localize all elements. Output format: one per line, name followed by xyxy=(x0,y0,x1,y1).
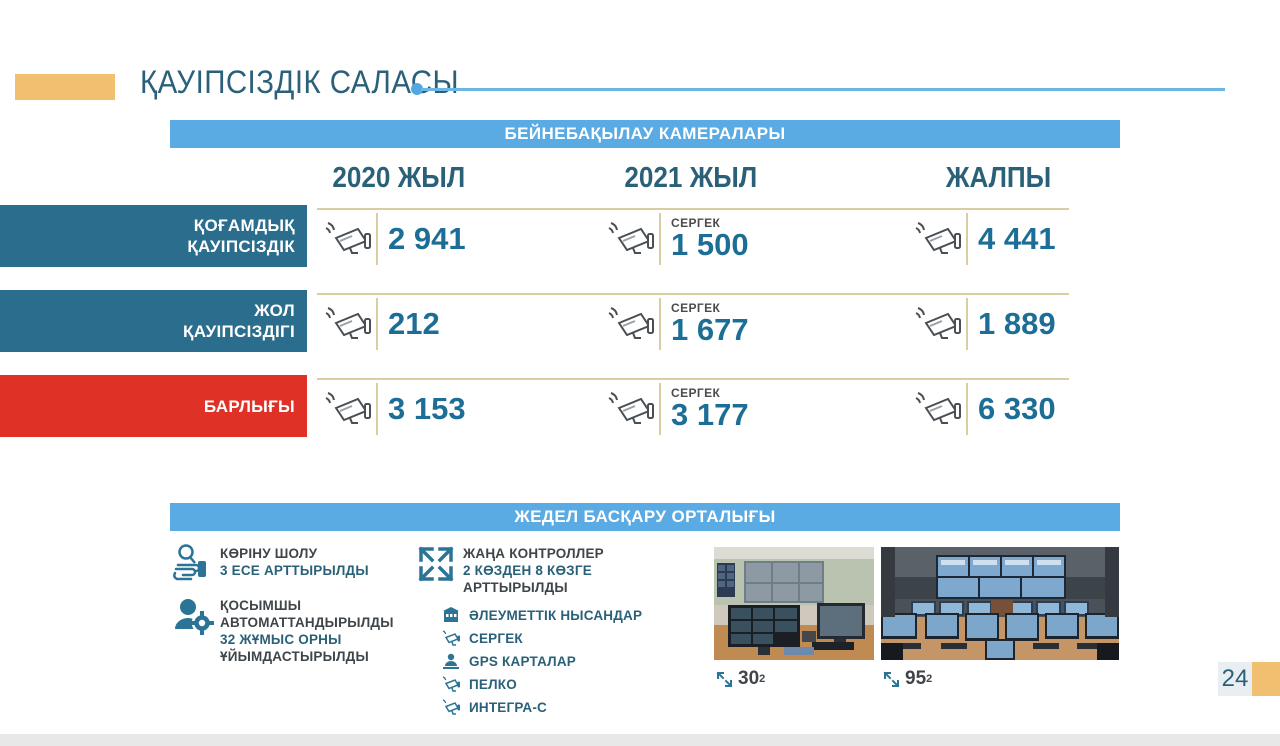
expand-arrows-icon xyxy=(415,543,457,585)
cell-value: 6 330 xyxy=(978,389,1056,429)
cell-value: 3 177 xyxy=(671,398,749,432)
feature-line: АВТОМАТТАНДЫРЫЛДЫ xyxy=(220,614,394,631)
list-item: СЕРГЕК xyxy=(415,629,700,647)
page-number-accent-bar xyxy=(1252,662,1280,696)
feature-line: 32 ЖҰМЫС ОРНЫ xyxy=(220,631,394,648)
cell-divider xyxy=(966,213,968,265)
table-row: ЖОЛ ҚАУІПСІЗДІГІ 212 xyxy=(0,290,1280,352)
feature-line: ЖАҢА КОНТРОЛЛЕР xyxy=(463,545,604,562)
cell-2020: 3 153 xyxy=(322,381,466,437)
photo-caption-superscript: 2 xyxy=(926,673,932,685)
cell-divider xyxy=(659,383,661,435)
row-label-line-1: ҚОҒАМДЫҚ xyxy=(194,215,295,236)
sub-item-label: СЕРГЕК xyxy=(469,631,523,646)
row-label-line-1: ЖОЛ xyxy=(254,300,295,321)
cctv-camera-icon xyxy=(440,629,462,647)
column-header-2021: 2021 ЖЫЛ xyxy=(624,162,757,195)
cctv-camera-icon xyxy=(322,304,374,344)
cell-divider xyxy=(659,213,661,265)
feature-line: ҰЙЫМДАСТЫРЫЛДЫ xyxy=(220,648,394,665)
cell-value: 212 xyxy=(388,304,440,344)
column-header-total: ЖАЛПЫ xyxy=(946,162,1051,195)
cell-divider xyxy=(659,298,661,350)
building-icon xyxy=(440,606,462,624)
cell-2020: 2 941 xyxy=(322,211,466,267)
table-row: ҚОҒАМДЫҚ ҚАУІПСІЗДІК 2 941 xyxy=(0,205,1280,267)
row-label-line-1: БАРЛЫҒЫ xyxy=(204,396,295,417)
control-center-left-features: КӨРІНУ ШОЛУ 3 ЕСЕ АРТТЫРЫЛДЫ ҚОСЫМШЫ АВТ… xyxy=(172,543,407,675)
sub-item-label: ПЕЛКО xyxy=(469,677,517,692)
title-accent-bar xyxy=(15,74,115,100)
user-settings-icon xyxy=(172,595,214,637)
list-item: ПЕЛКО xyxy=(415,675,700,693)
cell-divider xyxy=(966,383,968,435)
row-rule xyxy=(317,378,1069,380)
cell-divider xyxy=(376,213,378,265)
photo-caption-value: 30 xyxy=(738,668,759,690)
row-rule xyxy=(317,293,1069,295)
row-rule xyxy=(317,208,1069,210)
map-pin-person-icon xyxy=(440,652,462,670)
table-row: БАРЛЫҒЫ 3 153 СЕРГЕК xyxy=(0,375,1280,437)
list-item: ЖАҢА КОНТРОЛЛЕР 2 КӨЗДЕН 8 КӨЗГЕ АРТТЫРЫ… xyxy=(415,543,700,596)
cctv-camera-icon xyxy=(605,389,657,429)
feature-line: 3 ЕСЕ АРТТЫРЫЛДЫ xyxy=(220,562,369,579)
cell-value: 1 889 xyxy=(978,304,1056,344)
row-label-road-safety: ЖОЛ ҚАУІПСІЗДІГІ xyxy=(0,290,307,352)
cctv-camera-icon xyxy=(440,675,462,693)
cell-total: 4 441 xyxy=(912,211,1056,267)
cell-total: 6 330 xyxy=(912,381,1056,437)
cell-2020: 212 xyxy=(322,296,440,352)
cell-value: 4 441 xyxy=(978,219,1056,259)
cctv-camera-icon xyxy=(605,219,657,259)
cctv-camera-icon xyxy=(605,304,657,344)
cell-value: 1 500 xyxy=(671,228,749,262)
cell-divider xyxy=(376,298,378,350)
cctv-camera-icon xyxy=(912,304,964,344)
feature-line: КӨРІНУ ШОЛУ xyxy=(220,545,369,562)
row-label-line-2: ҚАУІПСІЗДІК xyxy=(187,236,295,257)
cell-value: 1 677 xyxy=(671,313,749,347)
feature-line: 2 КӨЗДЕН 8 КӨЗГЕ xyxy=(463,562,604,579)
cell-2021: СЕРГЕК 3 177 xyxy=(605,381,749,437)
row-label-total: БАРЛЫҒЫ xyxy=(0,375,307,437)
bottom-strip xyxy=(0,734,1280,746)
list-item: ӘЛЕУМЕТТІК НЫСАНДАР xyxy=(415,606,700,624)
control-room-photo-large xyxy=(881,547,1119,660)
slide-title-row: ҚАУІПСІЗДІК САЛАСЫ xyxy=(0,70,1280,110)
feature-line: АРТТЫРЫЛДЫ xyxy=(463,579,604,596)
cell-divider xyxy=(966,298,968,350)
cell-value: 2 941 xyxy=(388,219,466,259)
cell-2021: СЕРГЕК 1 500 xyxy=(605,211,749,267)
feature-line: ҚОСЫМШЫ xyxy=(220,597,394,614)
photo-caption-value: 95 xyxy=(905,668,926,690)
photo-caption-small: 302 xyxy=(716,668,765,690)
cctv-camera-icon xyxy=(322,219,374,259)
expand-icon xyxy=(883,671,900,688)
row-label-public-safety: ҚОҒАМДЫҚ ҚАУІПСІЗДІК xyxy=(0,205,307,267)
cell-divider xyxy=(376,383,378,435)
sub-item-label: GPS КАРТАЛАР xyxy=(469,654,576,669)
page-title: ҚАУІПСІЗДІК САЛАСЫ xyxy=(140,64,459,101)
cell-2021: СЕРГЕК 1 677 xyxy=(605,296,749,352)
list-item: ҚОСЫМШЫ АВТОМАТТАНДЫРЫЛДЫ 32 ЖҰМЫС ОРНЫ … xyxy=(172,595,407,665)
list-item: GPS КАРТАЛАР xyxy=(415,652,700,670)
control-center-section-banner: ЖЕДЕЛ БАСҚАРУ ОРТАЛЫҒЫ xyxy=(170,503,1120,531)
title-connector-line xyxy=(421,88,1225,91)
photo-caption-superscript: 2 xyxy=(759,673,765,685)
cameras-section-banner: БЕЙНЕБАҚЫЛАУ КАМЕРАЛАРЫ xyxy=(170,120,1120,148)
control-center-mid-features: ЖАҢА КОНТРОЛЛЕР 2 КӨЗДЕН 8 КӨЗГЕ АРТТЫРЫ… xyxy=(415,543,700,716)
column-header-2020: 2020 ЖЫЛ xyxy=(332,162,465,195)
cell-value: 3 153 xyxy=(388,389,466,429)
sub-item-label: ӘЛЕУМЕТТІК НЫСАНДАР xyxy=(469,608,642,623)
sub-item-label: ИНТЕГРА-С xyxy=(469,700,547,715)
page-number: 24 xyxy=(1218,662,1252,696)
list-item: КӨРІНУ ШОЛУ 3 ЕСЕ АРТТЫРЫЛДЫ xyxy=(172,543,407,585)
list-item: ИНТЕГРА-С xyxy=(415,698,700,716)
cell-total: 1 889 xyxy=(912,296,1056,352)
cctv-camera-icon xyxy=(912,389,964,429)
expand-icon xyxy=(716,671,733,688)
row-label-line-2: ҚАУІПСІЗДІГІ xyxy=(183,321,295,342)
cctv-camera-icon xyxy=(322,389,374,429)
cctv-camera-icon xyxy=(440,698,462,716)
control-room-photo-small xyxy=(714,547,874,660)
magnifier-in-hand-icon xyxy=(172,543,214,585)
photo-caption-large: 952 xyxy=(883,668,932,690)
cctv-camera-icon xyxy=(912,219,964,259)
